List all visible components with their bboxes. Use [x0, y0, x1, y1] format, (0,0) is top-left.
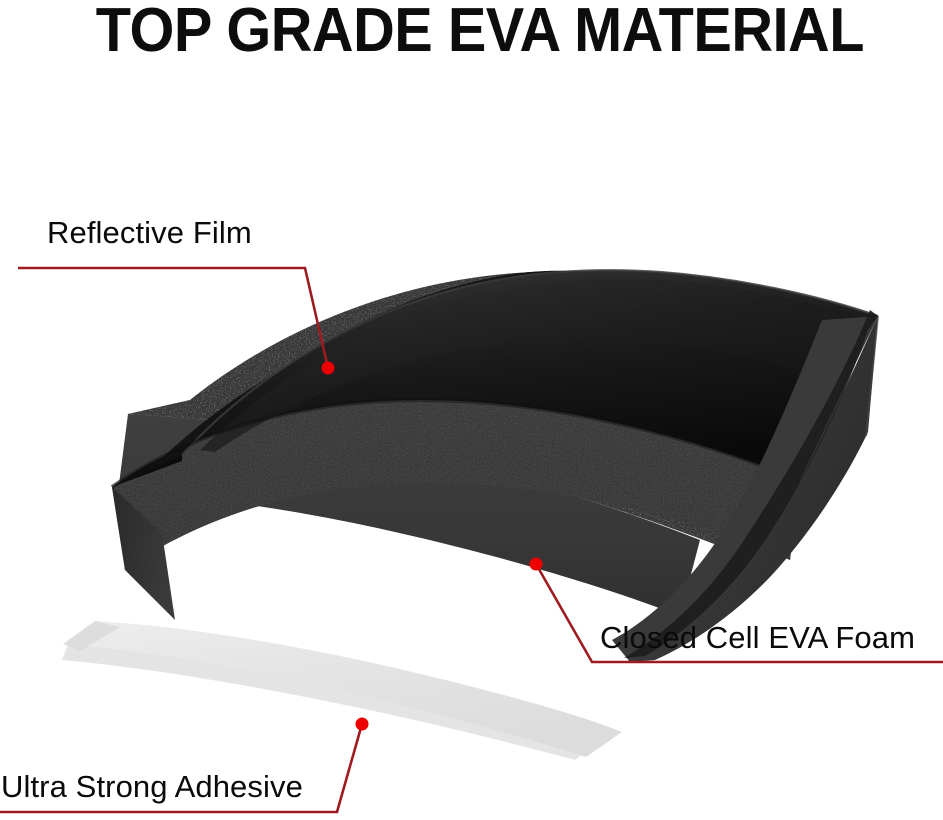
- infographic-canvas: TOP GRADE EVA MATERIAL: [0, 0, 943, 820]
- marker-eva-foam: [530, 558, 543, 571]
- callout-label-closed-cell-eva-foam: Closed Cell EVA Foam: [600, 622, 915, 653]
- callout-label-reflective-film: Reflective Film: [47, 217, 252, 248]
- eva-material-layer-illustration: [0, 0, 943, 820]
- callout-label-ultra-strong-adhesive: Ultra Strong Adhesive: [1, 771, 303, 802]
- marker-reflective-film: [322, 362, 335, 375]
- layer-adhesive-main: [63, 621, 622, 757]
- marker-adhesive: [356, 718, 369, 731]
